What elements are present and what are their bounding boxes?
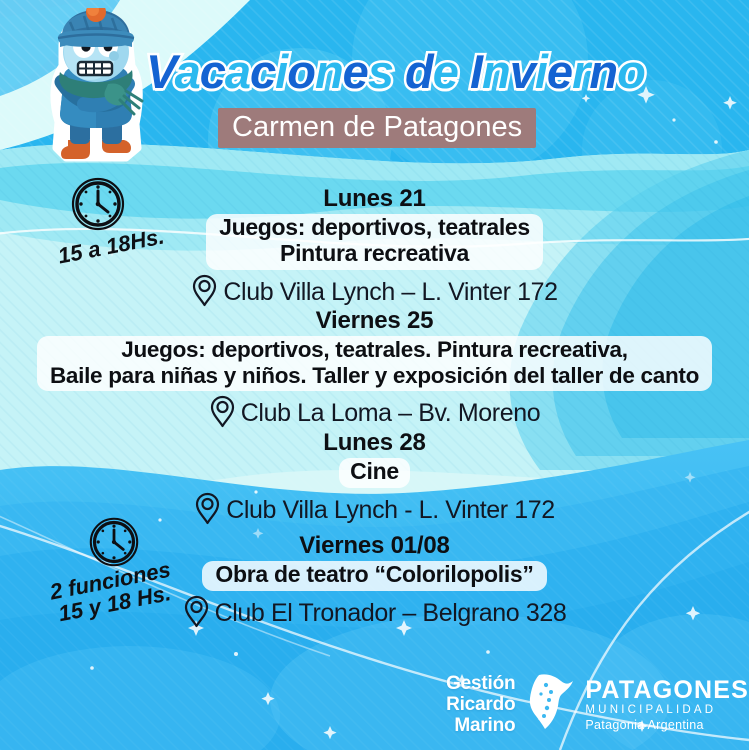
poster-header: Vacaciones de Invierno Carmen de Patagon… (0, 0, 749, 172)
location-pin-icon (183, 595, 210, 633)
event-location-text: Club La Loma – Bv. Moreno (241, 400, 540, 428)
event-location: Club El Tronador – Belgrano 328 (0, 595, 749, 633)
title-text: Vacaciones de Invierno (146, 48, 706, 95)
event-day: Viernes 25 (0, 308, 749, 334)
municipality-logo: PATAGONES MUNICIPALIDAD Patagonia Argent… (525, 672, 749, 737)
event-description-line: Baile para niñas y niños. Taller y expos… (50, 363, 699, 388)
location-pin-icon (194, 492, 221, 530)
location-pin-icon (209, 395, 236, 433)
event-item: Lunes 21 Juegos: deportivos, teatrales P… (0, 186, 749, 312)
event-description: Cine (339, 458, 410, 488)
subtitle-text: Carmen de Patagones (232, 111, 522, 143)
event-item: Viernes 25 Juegos: deportivos, teatrales… (0, 308, 749, 433)
event-description-line: Juegos: deportivos, teatrales (219, 215, 530, 241)
event-day: Viernes 01/08 (0, 533, 749, 559)
poster-footer: Gestión Ricardo Marino PAT (400, 672, 749, 737)
event-location-text: Club Villa Lynch - L. Vinter 172 (226, 497, 555, 525)
location-pin-icon (191, 274, 218, 312)
event-description-line: Juegos: deportivos, teatrales. Pintura r… (50, 337, 699, 362)
event-description: Juegos: deportivos, teatrales Pintura re… (206, 214, 543, 270)
event-item: Lunes 28 Cine Club Villa Lynch - L. Vint… (0, 430, 749, 530)
event-description-line: Pintura recreativa (219, 241, 530, 267)
municipality-logo-text: PATAGONES MUNICIPALIDAD Patagonia Argent… (585, 678, 749, 731)
event-description: Obra de teatro “Colorilopolis” (202, 561, 546, 591)
gestion-line-2: Ricardo Marino (400, 694, 515, 737)
event-description: Juegos: deportivos, teatrales. Pintura r… (37, 336, 712, 390)
patagones-map-logo-icon (525, 672, 577, 737)
poster-title: Vacaciones de Invierno (146, 48, 706, 95)
shivering-winter-kid-icon (34, 8, 158, 168)
event-location: Club La Loma – Bv. Moreno (0, 395, 749, 433)
event-location-text: Club El Tronador – Belgrano 328 (215, 600, 567, 628)
event-location-text: Club Villa Lynch – L. Vinter 172 (223, 279, 557, 307)
event-location: Club Villa Lynch - L. Vinter 172 (0, 492, 749, 530)
subtitle-bar: Carmen de Patagones (218, 108, 536, 148)
logo-line-2: MUNICIPALIDAD (585, 705, 749, 717)
logo-line-1: PATAGONES (585, 678, 749, 703)
event-description-line: Obra de teatro “Colorilopolis” (215, 562, 533, 588)
logo-line-3: Patagonia Argentina (585, 719, 749, 732)
event-day: Lunes 28 (0, 430, 749, 456)
event-item: Viernes 01/08 Obra de teatro “Colorilopo… (0, 533, 749, 633)
poster-canvas: Vacaciones de Invierno Carmen de Patagon… (0, 0, 749, 750)
event-description-line: Cine (350, 459, 399, 485)
event-day: Lunes 21 (0, 186, 749, 212)
gestion-line-1: Gestión (400, 673, 515, 694)
gestion-block: Gestión Ricardo Marino (400, 673, 515, 737)
